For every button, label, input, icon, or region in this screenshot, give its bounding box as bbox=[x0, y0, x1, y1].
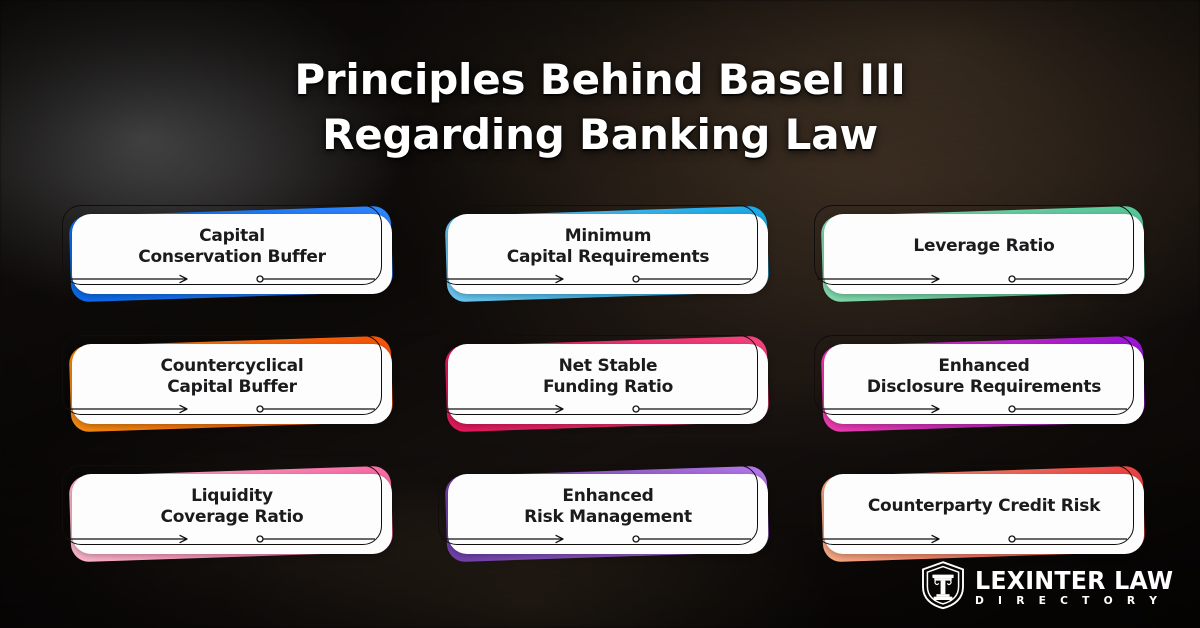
page-title-container: Principles Behind Basel III Regarding Ba… bbox=[0, 52, 1200, 163]
card-connector bbox=[440, 532, 758, 546]
card-connector bbox=[64, 272, 382, 286]
circle-node-icon bbox=[257, 406, 263, 412]
card-label: Minimum Capital Requirements bbox=[507, 226, 710, 269]
principle-card[interactable]: Leverage Ratio bbox=[814, 205, 1144, 301]
circle-node-icon bbox=[1009, 276, 1015, 282]
card-label: Enhanced Disclosure Requirements bbox=[867, 356, 1101, 399]
card-label: Leverage Ratio bbox=[913, 236, 1054, 257]
principle-card[interactable]: Countercyclical Capital Buffer bbox=[62, 335, 392, 431]
brand-name: LEXINTER LAW bbox=[975, 568, 1173, 593]
circle-node-icon bbox=[257, 536, 263, 542]
card-connector bbox=[440, 272, 758, 286]
card-label: Liquidity Coverage Ratio bbox=[161, 486, 304, 529]
principle-card[interactable]: Capital Conservation Buffer bbox=[62, 205, 392, 301]
page-title: Principles Behind Basel III Regarding Ba… bbox=[0, 52, 1200, 163]
card-connector bbox=[64, 532, 382, 546]
infographic-canvas: Principles Behind Basel III Regarding Ba… bbox=[0, 0, 1200, 628]
card-connector bbox=[440, 402, 758, 416]
circle-node-icon bbox=[633, 406, 639, 412]
circle-node-icon bbox=[1009, 536, 1015, 542]
card-connector bbox=[816, 272, 1134, 286]
brand-logo-text: LEXINTER LAW D I R E C T O R Y bbox=[975, 568, 1184, 606]
brand-subtitle: D I R E C T O R Y bbox=[975, 595, 1177, 606]
circle-node-icon bbox=[633, 276, 639, 282]
principle-card[interactable]: Minimum Capital Requirements bbox=[438, 205, 768, 301]
principle-card[interactable]: Liquidity Coverage Ratio bbox=[62, 465, 392, 561]
card-connector bbox=[816, 402, 1134, 416]
card-label: Net Stable Funding Ratio bbox=[543, 356, 673, 399]
circle-node-icon bbox=[633, 536, 639, 542]
principle-card[interactable]: Enhanced Risk Management bbox=[438, 465, 768, 561]
brand-logo[interactable]: LEXINTER LAW D I R E C T O R Y bbox=[920, 560, 1184, 614]
card-label: Countercyclical Capital Buffer bbox=[161, 356, 304, 399]
circle-node-icon bbox=[1009, 406, 1015, 412]
principles-grid: Capital Conservation Buffer Minimum Capi… bbox=[62, 205, 1144, 561]
circle-node-icon bbox=[257, 276, 263, 282]
principle-card[interactable]: Counterparty Credit Risk bbox=[814, 465, 1144, 561]
shield-column-icon bbox=[920, 560, 966, 614]
principle-card[interactable]: Net Stable Funding Ratio bbox=[438, 335, 768, 431]
card-connector bbox=[816, 532, 1134, 546]
card-label: Capital Conservation Buffer bbox=[138, 226, 326, 269]
principle-card[interactable]: Enhanced Disclosure Requirements bbox=[814, 335, 1144, 431]
card-label: Enhanced Risk Management bbox=[524, 486, 692, 529]
card-connector bbox=[64, 402, 382, 416]
card-label: Counterparty Credit Risk bbox=[868, 496, 1100, 517]
